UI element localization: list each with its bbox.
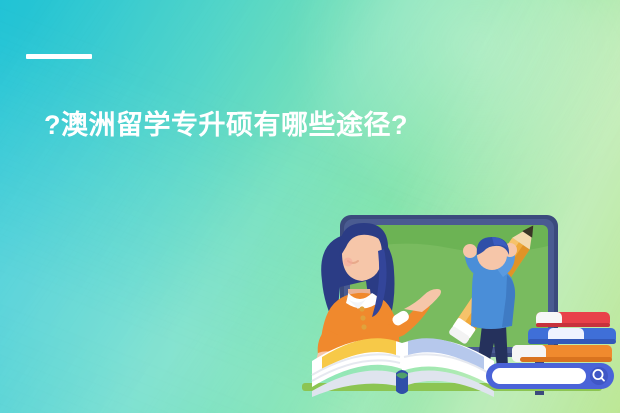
search-input (492, 368, 586, 384)
page-title: ?澳洲留学专升硕有哪些途径? (44, 107, 474, 143)
education-illustration (296, 205, 620, 413)
search-bar (486, 363, 614, 389)
accent-rule (26, 54, 92, 59)
promo-banner: ?澳洲留学专升硕有哪些途径? (0, 0, 620, 413)
